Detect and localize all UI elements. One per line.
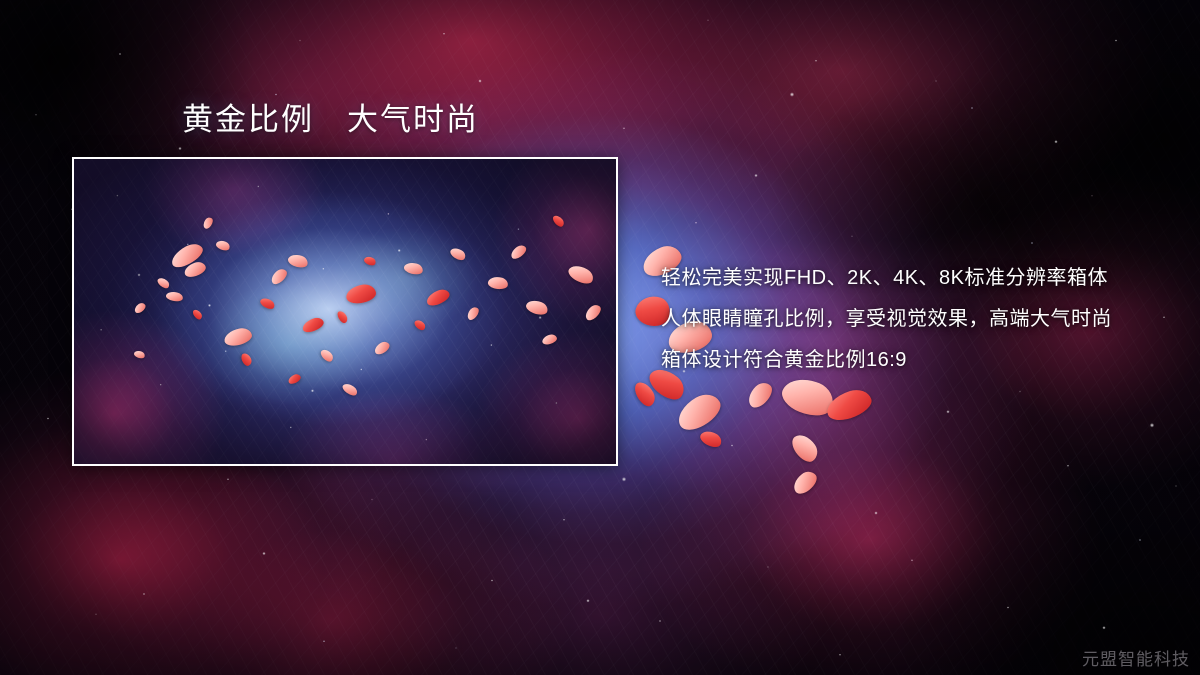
photo-content (74, 159, 616, 464)
body-line-3: 箱体设计符合黄金比例16:9 (661, 340, 1181, 381)
framed-photo (72, 157, 618, 466)
watermark-text: 元盟智能科技 (1082, 649, 1190, 671)
slide-title: 黄金比例 大气时尚 (182, 101, 479, 139)
body-line-1: 轻松完美实现FHD、2K、4K、8K标准分辨率箱体 (661, 258, 1181, 299)
body-text-block: 轻松完美实现FHD、2K、4K、8K标准分辨率箱体 人体眼睛瞳孔比例，享受视觉效… (661, 258, 1181, 381)
body-line-2: 人体眼睛瞳孔比例，享受视觉效果，高端大气时尚 (661, 299, 1181, 340)
presentation-slide: 黄金比例 大气时尚 轻松完美实现FHD、2K、4K、8K标准分辨率箱体 人体眼睛… (0, 0, 1200, 675)
